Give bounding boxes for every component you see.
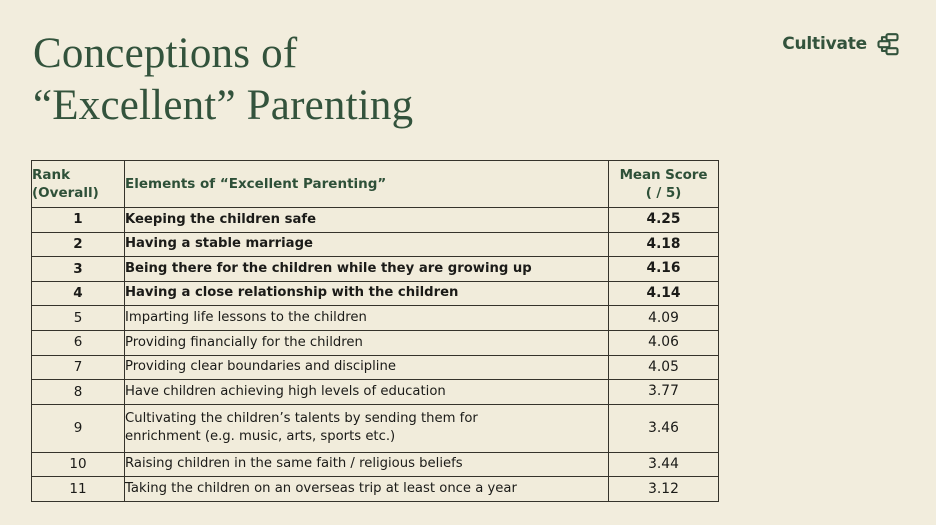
cell-score: 3.44 — [609, 452, 719, 477]
column-header-rank: Rank (Overall) — [32, 161, 125, 208]
table-row: 5 Imparting life lessons to the children… — [32, 306, 719, 331]
cell-element: Being there for the children while they … — [125, 257, 609, 282]
cell-element: Having a stable marriage — [125, 232, 609, 257]
cell-rank: 4 — [32, 281, 125, 306]
cell-score: 3.12 — [609, 477, 719, 502]
cell-element-line1: Cultivating the children’s talents by se… — [125, 411, 478, 426]
cell-score: 4.14 — [609, 281, 719, 306]
table-row: 1 Keeping the children safe 4.25 — [32, 208, 719, 233]
cell-element: Imparting life lessons to the children — [125, 306, 609, 331]
page-title: Conceptions of “Excellent” Parenting — [33, 28, 653, 133]
cell-rank: 6 — [32, 330, 125, 355]
cell-rank: 1 — [32, 208, 125, 233]
cell-score: 4.16 — [609, 257, 719, 282]
cell-rank: 8 — [32, 380, 125, 405]
cell-element: Keeping the children safe — [125, 208, 609, 233]
parenting-elements-table: Rank (Overall) Elements of “Excellent Pa… — [31, 160, 718, 502]
cell-score: 4.06 — [609, 330, 719, 355]
table-row: 2 Having a stable marriage 4.18 — [32, 232, 719, 257]
cell-score: 3.77 — [609, 380, 719, 405]
cell-rank: 3 — [32, 257, 125, 282]
cell-rank: 11 — [32, 477, 125, 502]
cell-rank: 7 — [32, 355, 125, 380]
cell-score: 4.05 — [609, 355, 719, 380]
cell-element: Providing clear boundaries and disciplin… — [125, 355, 609, 380]
table-row: 6 Providing financially for the children… — [32, 330, 719, 355]
cell-element: Having a close relationship with the chi… — [125, 281, 609, 306]
table-row: 3 Being there for the children while the… — [32, 257, 719, 282]
cell-element-line2: enrichment (e.g. music, arts, sports etc… — [125, 428, 608, 446]
cell-score: 4.18 — [609, 232, 719, 257]
org-chart-icon — [876, 32, 900, 56]
column-header-mean-score: Mean Score ( / 5) — [609, 161, 719, 208]
brand-logo: Cultivate — [782, 32, 900, 56]
cell-element: Taking the children on an overseas trip … — [125, 477, 609, 502]
table-row: 4 Having a close relationship with the c… — [32, 281, 719, 306]
table-row: 10 Raising children in the same faith / … — [32, 452, 719, 477]
cell-score: 4.09 — [609, 306, 719, 331]
cell-element: Providing financially for the children — [125, 330, 609, 355]
cell-element: Cultivating the children’s talents by se… — [125, 404, 609, 452]
brand-name: Cultivate — [782, 36, 867, 53]
cell-element: Raising children in the same faith / rel… — [125, 452, 609, 477]
cell-element: Have children achieving high levels of e… — [125, 380, 609, 405]
table-header-row: Rank (Overall) Elements of “Excellent Pa… — [32, 161, 719, 208]
table-row: 7 Providing clear boundaries and discipl… — [32, 355, 719, 380]
cell-rank: 2 — [32, 232, 125, 257]
cell-rank: 9 — [32, 404, 125, 452]
cell-rank: 5 — [32, 306, 125, 331]
column-header-element: Elements of “Excellent Parenting” — [125, 161, 609, 208]
slide-canvas: Conceptions of “Excellent” Parenting Cul… — [0, 0, 936, 525]
table-row: 11 Taking the children on an overseas tr… — [32, 477, 719, 502]
table-row: 8 Have children achieving high levels of… — [32, 380, 719, 405]
cell-rank: 10 — [32, 452, 125, 477]
cell-score: 3.46 — [609, 404, 719, 452]
table-row: 9 Cultivating the children’s talents by … — [32, 404, 719, 452]
cell-score: 4.25 — [609, 208, 719, 233]
